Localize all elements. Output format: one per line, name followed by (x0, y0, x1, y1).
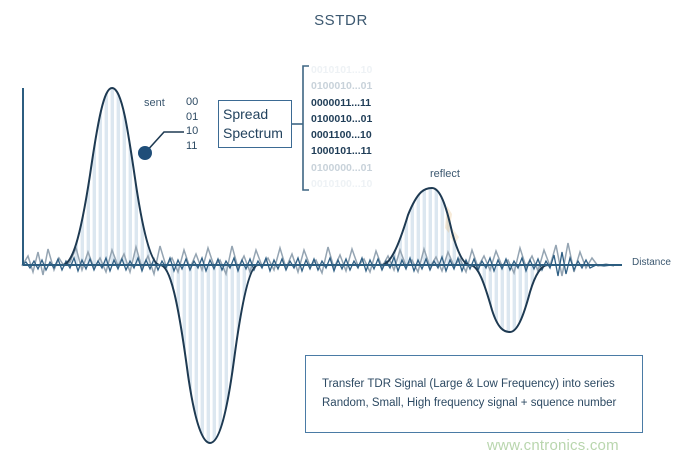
bit-pair-list: 00 01 10 11 (186, 95, 198, 153)
diagram-canvas: SSTDR sent reflect Distance 00 01 10 11 … (0, 0, 682, 464)
spread-spectrum-line1: Spread (223, 105, 291, 124)
x-axis-label: Distance (632, 257, 671, 268)
binary-sequence-list: 0010101...10 0100010...01 0000011...11 0… (311, 62, 372, 192)
sequence-row: 0010101...10 (311, 62, 372, 78)
sequence-bracket (292, 66, 309, 190)
bit-pair-00: 00 (186, 95, 198, 110)
caption-box: Transfer TDR Signal (Large & Low Frequen… (305, 355, 643, 433)
sent-label: sent (144, 97, 165, 109)
spread-spectrum-line2: Spectrum (223, 124, 291, 143)
sequence-row: 0001100...10 (311, 127, 372, 143)
bit-pair-11: 11 (186, 139, 198, 154)
page-title: SSTDR (0, 12, 682, 29)
sequence-row: 0100010...01 (311, 78, 372, 94)
sequence-row: 0000011...11 (311, 95, 372, 111)
bit-pair-10: 10 (186, 124, 198, 139)
watermark: www.cntronics.com (487, 437, 619, 454)
sent-leader (138, 132, 184, 160)
caption-line2: Random, Small, High frequency signal + s… (322, 394, 642, 413)
sequence-row: 0100010...01 (311, 111, 372, 127)
sequence-row: 1000101...11 (311, 143, 372, 159)
caption-line1: Transfer TDR Signal (Large & Low Frequen… (322, 375, 642, 394)
sequence-row: 0100000...01 (311, 160, 372, 176)
bit-pair-01: 01 (186, 110, 198, 125)
sequence-row: 0010100...10 (311, 176, 372, 192)
reflect-label: reflect (430, 168, 460, 180)
sent-marker-dot (138, 146, 152, 160)
spread-spectrum-box: Spread Spectrum (218, 100, 292, 148)
